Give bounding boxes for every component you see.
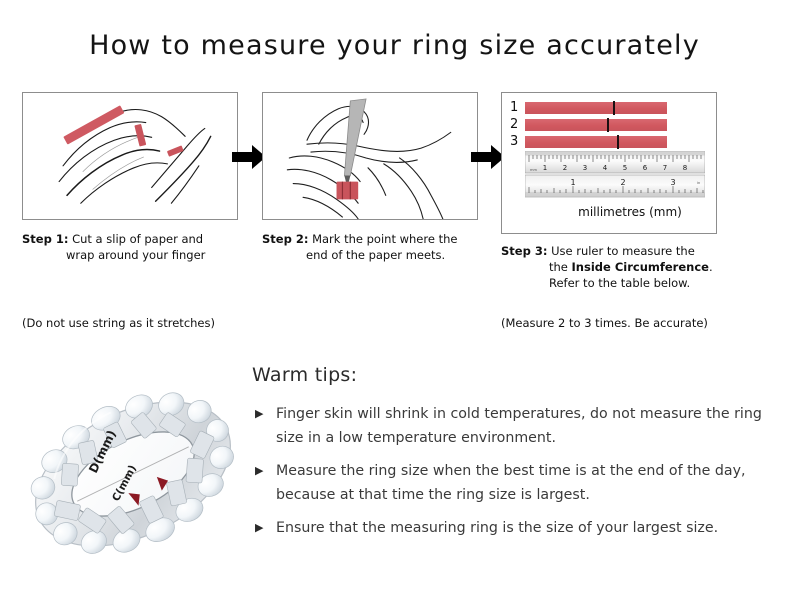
step-3-line1: Use ruler to measure the — [551, 244, 695, 258]
strip-number: 3 — [510, 135, 525, 148]
bullet-icon: ▶ — [255, 516, 263, 540]
svg-text:2: 2 — [620, 178, 625, 187]
strip-mark — [607, 118, 609, 132]
warm-tips-heading: Warm tips: — [252, 364, 772, 386]
svg-text:2: 2 — [563, 164, 567, 172]
svg-text:6: 6 — [643, 164, 648, 172]
steps-row: Step 1: Cut a slip of paper and wrap aro… — [0, 92, 789, 342]
step-1-note: (Do not use string as it stretches) — [22, 316, 215, 330]
millimetres-label: millimetres (mm) — [502, 205, 717, 219]
paper-slip-on-finger — [337, 182, 359, 200]
tip-item: ▶ Ensure that the measuring ring is the … — [252, 516, 772, 540]
svg-text:3: 3 — [583, 164, 587, 172]
step-1-panel — [22, 92, 238, 220]
svg-text:1: 1 — [570, 178, 575, 187]
step-2-line2: end of the paper meets. — [262, 247, 478, 263]
ruler-icon: 123 456 78 mm 123 — [525, 151, 705, 198]
strip-row: 2 — [510, 118, 667, 131]
tip-text: Ensure that the measuring ring is the si… — [276, 520, 718, 536]
ruler-with-measured-paper-strips: 1 2 3 — [502, 93, 717, 234]
svg-text:mm: mm — [530, 168, 538, 172]
step-3: 1 2 3 — [501, 92, 717, 291]
paper-slip-on-finger — [134, 124, 183, 157]
paper-strip — [525, 102, 667, 114]
strip-row: 1 — [510, 101, 667, 114]
hand-marking-paper-with-pen-illustration — [263, 93, 477, 219]
ring-diagram: D(mm) C(mm) — [18, 352, 248, 587]
bullet-icon: ▶ — [255, 459, 263, 483]
paper-strip — [525, 119, 667, 131]
svg-text:5: 5 — [623, 164, 627, 172]
step-3-line2-pre: the — [549, 260, 572, 274]
step-2-line1: Mark the point where the — [312, 232, 457, 246]
ring-size-guide-page: How to measure your ring size accurately — [0, 0, 789, 606]
svg-text:7: 7 — [663, 164, 667, 172]
arrow-step2-to-step3-icon — [471, 144, 505, 170]
strip-row: 3 — [510, 135, 667, 148]
paper-strip — [525, 136, 667, 148]
step-1: Step 1: Cut a slip of paper and wrap aro… — [22, 92, 238, 263]
arrow-step1-to-step2-icon — [232, 144, 266, 170]
paper-slip-free — [63, 105, 124, 144]
tip-item: ▶ Measure the ring size when the best ti… — [252, 459, 772, 507]
warm-tips-section: Warm tips: ▶ Finger skin will shrink in … — [252, 364, 772, 549]
page-title: How to measure your ring size accurately — [0, 30, 789, 61]
step-1-caption: Step 1: Cut a slip of paper and wrap aro… — [22, 231, 238, 263]
step-3-line2-post: . — [709, 260, 713, 274]
strip-mark — [617, 135, 619, 149]
inside-circumference-emphasis: Inside Circumference — [572, 260, 709, 274]
bullet-icon: ▶ — [255, 402, 263, 426]
tip-text: Measure the ring size when the best time… — [276, 463, 746, 503]
strip-number: 1 — [510, 101, 525, 114]
step-3-label: Step 3: — [501, 244, 547, 258]
svg-text:4: 4 — [603, 164, 608, 172]
step-1-line2: wrap around your finger — [22, 247, 238, 263]
step-1-label: Step 1: — [22, 232, 68, 246]
svg-text:8: 8 — [683, 164, 687, 172]
tip-item: ▶ Finger skin will shrink in cold temper… — [252, 402, 772, 450]
step-3-note: (Measure 2 to 3 times. Be accurate) — [501, 316, 708, 330]
strip-number: 2 — [510, 118, 525, 131]
hand-with-paper-slip-illustration — [23, 93, 237, 219]
step-2: Step 2: Mark the point where the end of … — [262, 92, 478, 263]
step-1-line1: Cut a slip of paper and — [72, 232, 203, 246]
svg-text:3: 3 — [670, 178, 675, 187]
strip-mark — [613, 101, 615, 115]
step-2-panel — [262, 92, 478, 220]
tip-text: Finger skin will shrink in cold temperat… — [276, 406, 762, 446]
svg-text:1: 1 — [543, 164, 547, 172]
step-3-line3: Refer to the table below. — [501, 275, 717, 291]
step-3-caption: Step 3: Use ruler to measure the the Ins… — [501, 243, 717, 291]
step-2-caption: Step 2: Mark the point where the end of … — [262, 231, 478, 263]
step-2-label: Step 2: — [262, 232, 308, 246]
svg-text:in: in — [697, 181, 700, 185]
pen — [344, 99, 366, 188]
step-3-panel: 1 2 3 — [501, 92, 717, 234]
